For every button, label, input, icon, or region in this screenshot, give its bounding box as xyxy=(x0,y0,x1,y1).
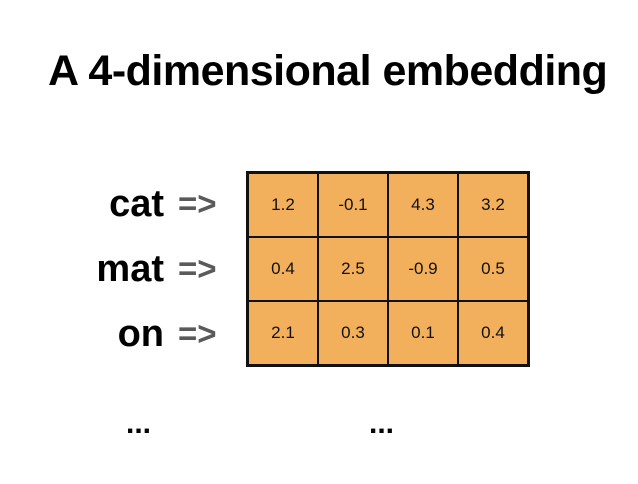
word-label-cat: cat xyxy=(109,185,164,223)
word-label-list: cat => mat => on => xyxy=(0,171,230,366)
matrix-cell: 0.4 xyxy=(458,301,529,366)
table-row: 2.1 0.3 0.1 0.4 xyxy=(248,301,529,366)
matrix-cell: 0.4 xyxy=(248,237,319,301)
table-row: 1.2 -0.1 4.3 3.2 xyxy=(248,173,529,238)
word-row-cat: cat => xyxy=(0,171,230,236)
table-row: 0.4 2.5 -0.9 0.5 xyxy=(248,237,529,301)
arrow-icon-cat: => xyxy=(178,187,230,220)
matrix-cell: 4.3 xyxy=(388,173,458,238)
word-row-mat: mat => xyxy=(0,236,230,301)
matrix-cell: 0.5 xyxy=(458,237,529,301)
arrow-icon-mat: => xyxy=(178,252,230,285)
arrow-icon-on: => xyxy=(178,317,230,350)
word-label-on: on xyxy=(118,315,164,353)
matrix-cell: 1.2 xyxy=(248,173,319,238)
word-row-on: on => xyxy=(0,301,230,366)
matrix-cell: 3.2 xyxy=(458,173,529,238)
matrix-cell: -0.1 xyxy=(318,173,388,238)
matrix-cell: 2.1 xyxy=(248,301,319,366)
matrix-cell: 0.1 xyxy=(388,301,458,366)
matrix-cell: -0.9 xyxy=(388,237,458,301)
page-title: A 4-dimensional embedding xyxy=(48,48,608,94)
embedding-matrix: 1.2 -0.1 4.3 3.2 0.4 2.5 -0.9 0.5 2.1 0.… xyxy=(246,171,530,367)
matrix-cell: 0.3 xyxy=(318,301,388,366)
word-label-mat: mat xyxy=(96,250,164,288)
ellipsis-words: ... xyxy=(126,409,151,439)
matrix-cell: 2.5 xyxy=(318,237,388,301)
ellipsis-matrix: ... xyxy=(369,409,394,439)
slide-canvas: A 4-dimensional embedding cat => mat => … xyxy=(0,0,638,484)
